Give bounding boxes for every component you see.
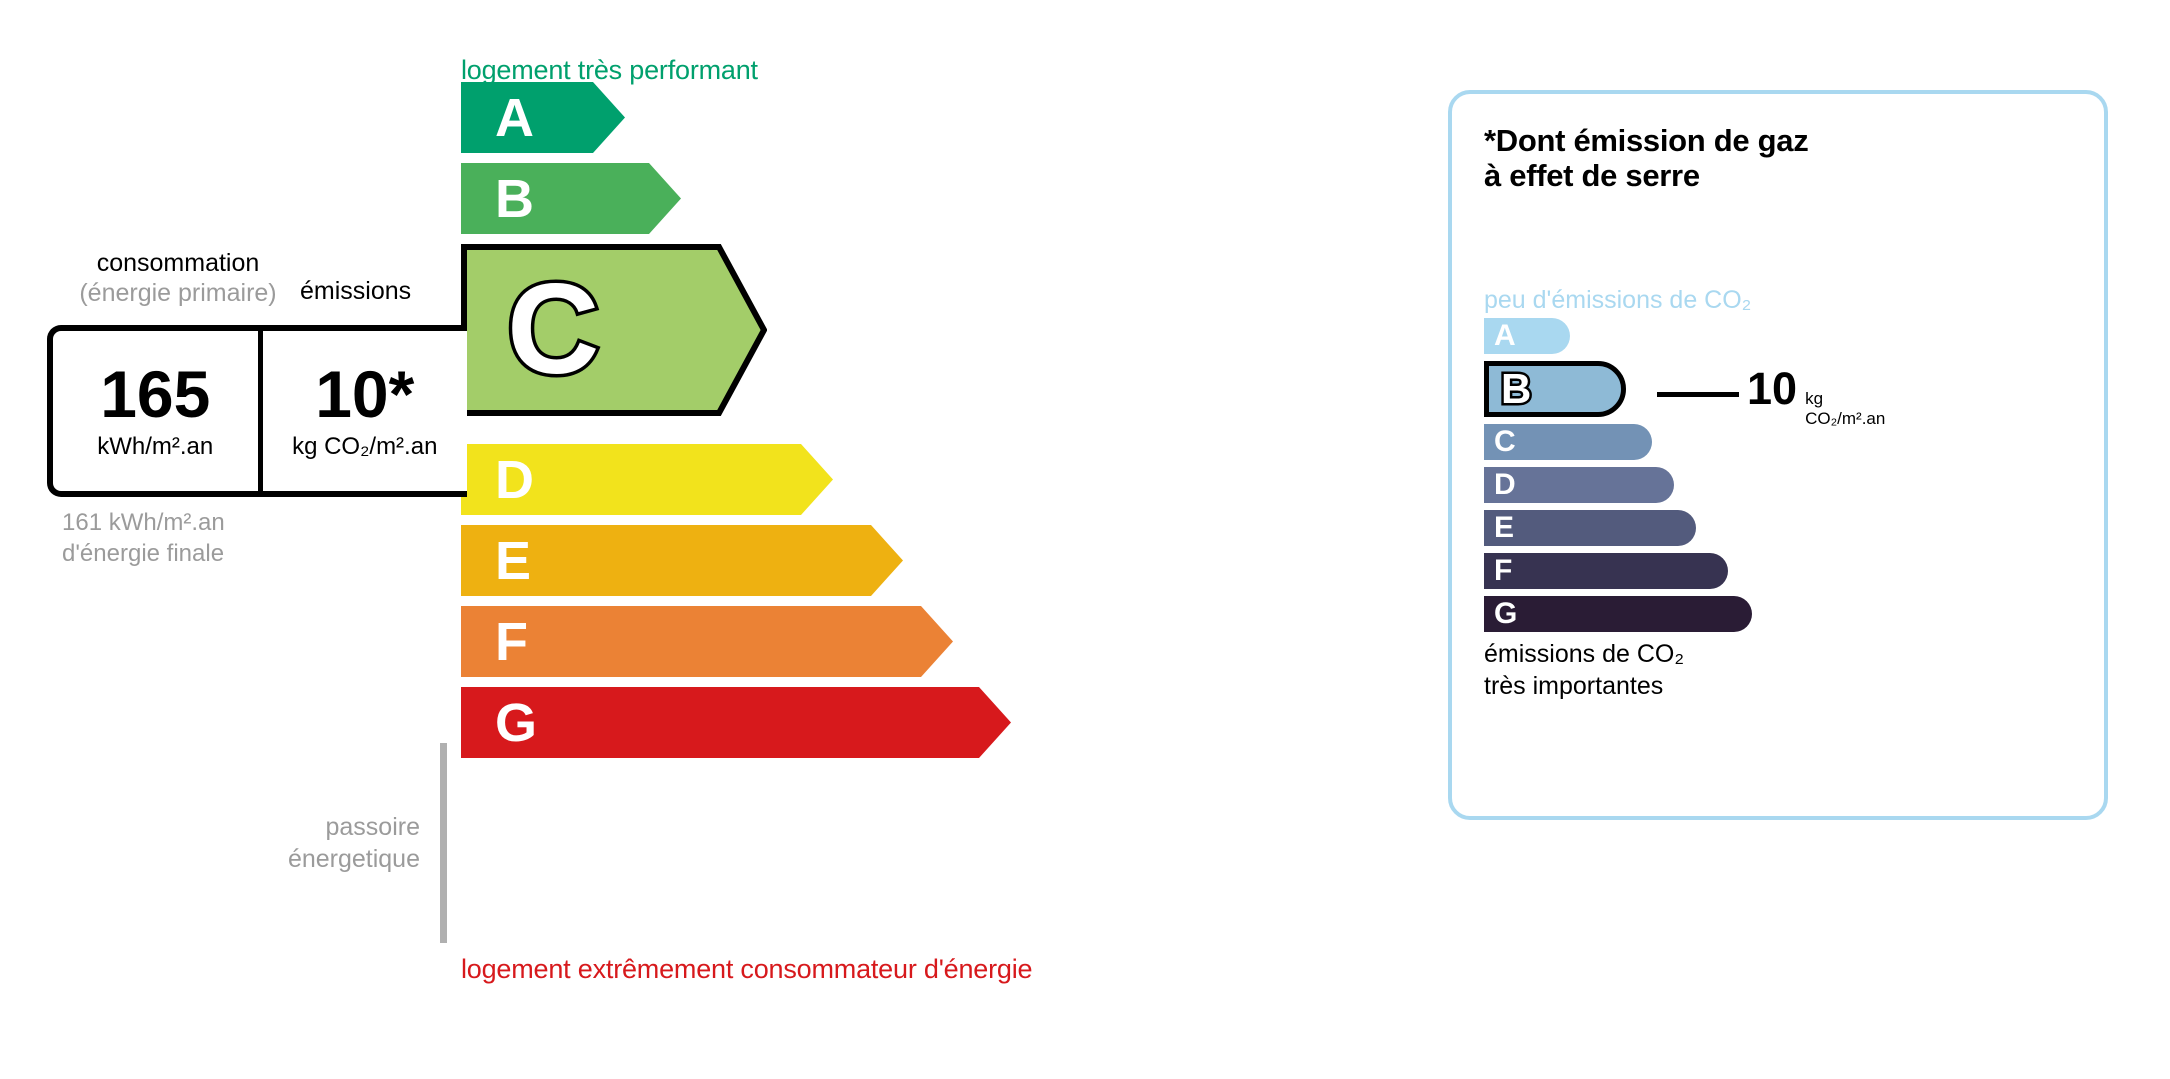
co2-bottom-caption: émissions de CO₂ très importantes <box>1484 639 1684 702</box>
arrow-shape-g <box>461 687 1011 758</box>
consumption-value-cell: 165 kWh/m².an <box>53 331 258 491</box>
energy-row-g[interactable]: G <box>461 687 1011 758</box>
class-letter-b: B <box>495 172 534 226</box>
energy-row-e[interactable]: E <box>461 525 903 596</box>
consumption-header-line1: consommation <box>58 248 298 278</box>
co2-letter-f: F <box>1494 556 1512 586</box>
final-energy-note: 161 kWh/m².an d'énergie finale <box>62 508 225 569</box>
class-letter-e: E <box>495 534 531 588</box>
arrow-shape-a <box>461 82 625 153</box>
co2-bottom-line2: très importantes <box>1484 671 1684 703</box>
co2-value-callout: 10 kg CO₂/m².an <box>1747 366 1885 429</box>
energy-class-rows: A B C <box>461 82 1261 947</box>
passoire-bracket <box>440 743 447 943</box>
emission-value-cell: 10* kg CO₂/m².an <box>258 331 468 491</box>
consumption-value: 165 <box>100 361 210 427</box>
energy-row-a[interactable]: A <box>461 82 625 153</box>
co2-letter-c: C <box>1494 427 1516 457</box>
co2-letter-d: D <box>1494 470 1516 500</box>
emission-unit: kg CO₂/m².an <box>292 433 437 461</box>
co2-bottom-line1: émissions de CO₂ <box>1484 639 1684 671</box>
co2-unit: kg CO₂/m².an <box>1805 389 1885 429</box>
co2-bar-c[interactable]: C <box>1484 424 1652 460</box>
class-letter-g: G <box>495 696 537 750</box>
consumption-header: consommation (énergie primaire) <box>58 248 298 308</box>
co2-letter-a: A <box>1494 321 1516 351</box>
energy-row-c-highlighted[interactable]: C <box>461 244 767 416</box>
class-letter-c: C <box>507 266 599 394</box>
co2-bar-g[interactable]: G <box>1484 596 1752 632</box>
emission-value: 10* <box>315 361 414 427</box>
co2-letter-e: E <box>1494 513 1514 543</box>
co2-panel: *Dont émission de gaz à effet de serre p… <box>1448 90 2108 820</box>
co2-title-line2: à effet de serre <box>1484 159 1808 194</box>
value-box: 165 kWh/m².an 10* kg CO₂/m².an <box>47 325 467 497</box>
co2-title-line1: *Dont émission de gaz <box>1484 124 1808 159</box>
co2-top-caption: peu d'émissions de CO₂ <box>1484 286 1751 315</box>
bottom-caption: logement extrêmement consommateur d'éner… <box>461 954 1032 985</box>
consumption-unit: kWh/m².an <box>97 433 213 461</box>
emissions-header: émissions <box>300 277 411 306</box>
passoire-line2: énergetique <box>230 844 420 876</box>
passoire-label: passoire énergetique <box>230 812 420 875</box>
co2-bar-d[interactable]: D <box>1484 467 1674 503</box>
energy-performance-ladder: logement très performant A B <box>0 0 1400 1079</box>
co2-value: 10 <box>1747 366 1797 411</box>
energy-row-d[interactable]: D <box>461 444 833 515</box>
class-letter-f: F <box>495 615 528 669</box>
arrow-shape-f <box>461 606 953 677</box>
energy-row-f[interactable]: F <box>461 606 953 677</box>
co2-letter-b: B <box>1501 368 1531 410</box>
co2-leader-line <box>1657 392 1739 397</box>
co2-bar-f[interactable]: F <box>1484 553 1728 589</box>
final-energy-line2: d'énergie finale <box>62 539 225 570</box>
energy-row-b[interactable]: B <box>461 163 681 234</box>
consumption-header-line2: (énergie primaire) <box>58 278 298 308</box>
final-energy-line1: 161 kWh/m².an <box>62 508 225 539</box>
co2-class-bars: A B 10 kg CO₂/m².an C D E F <box>1484 318 2084 639</box>
arrow-shape-b <box>461 163 681 234</box>
class-letter-d: D <box>495 453 534 507</box>
co2-bar-e[interactable]: E <box>1484 510 1696 546</box>
co2-panel-title: *Dont émission de gaz à effet de serre <box>1484 124 1808 193</box>
co2-letter-g: G <box>1494 599 1517 629</box>
class-letter-a: A <box>495 91 534 145</box>
co2-bar-b-highlighted[interactable]: B 10 kg CO₂/m².an <box>1484 361 1626 417</box>
passoire-line1: passoire <box>230 812 420 844</box>
co2-bar-a[interactable]: A <box>1484 318 1570 354</box>
dpe-diagram: logement très performant A B <box>0 0 2170 1079</box>
